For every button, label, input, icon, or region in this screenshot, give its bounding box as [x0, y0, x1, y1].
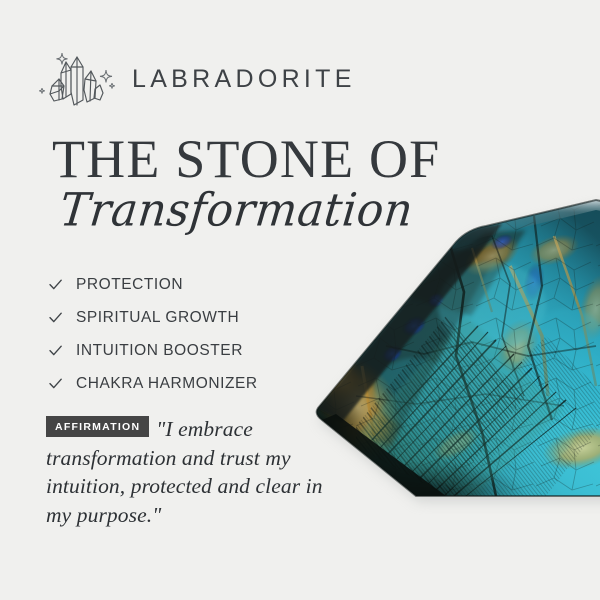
page-title: THE STONE OF Transformation	[52, 132, 440, 234]
list-item: SPIRITUAL GROWTH	[48, 301, 258, 334]
brand-name: LABRADORITE	[132, 65, 356, 94]
affirmation-block: AFFIRMATION"I embrace transformation and…	[46, 415, 346, 529]
check-icon	[48, 376, 63, 391]
list-item: PROTECTION	[48, 268, 258, 301]
benefit-label: PROTECTION	[76, 276, 183, 294]
benefit-label: INTUITION BOOSTER	[76, 342, 243, 360]
brand-lockup: LABRADORITE	[38, 48, 356, 110]
labradorite-info-card: LABRADORITE THE STONE OF Transformation …	[0, 0, 600, 600]
list-item: CHAKRA HARMONIZER	[48, 367, 258, 400]
benefit-label: CHAKRA HARMONIZER	[76, 375, 258, 393]
check-icon	[48, 343, 63, 358]
benefits-list: PROTECTION SPIRITUAL GROWTH INTUITION BO…	[48, 268, 258, 400]
list-item: INTUITION BOOSTER	[48, 334, 258, 367]
headline-script-word: Transformation	[57, 187, 442, 235]
crystal-cluster-icon	[38, 48, 116, 110]
benefit-label: SPIRITUAL GROWTH	[76, 309, 239, 327]
check-icon	[48, 277, 63, 292]
check-icon	[48, 310, 63, 325]
status-badge: AFFIRMATION	[46, 416, 149, 437]
headline-line-1: THE STONE OF	[52, 132, 440, 186]
